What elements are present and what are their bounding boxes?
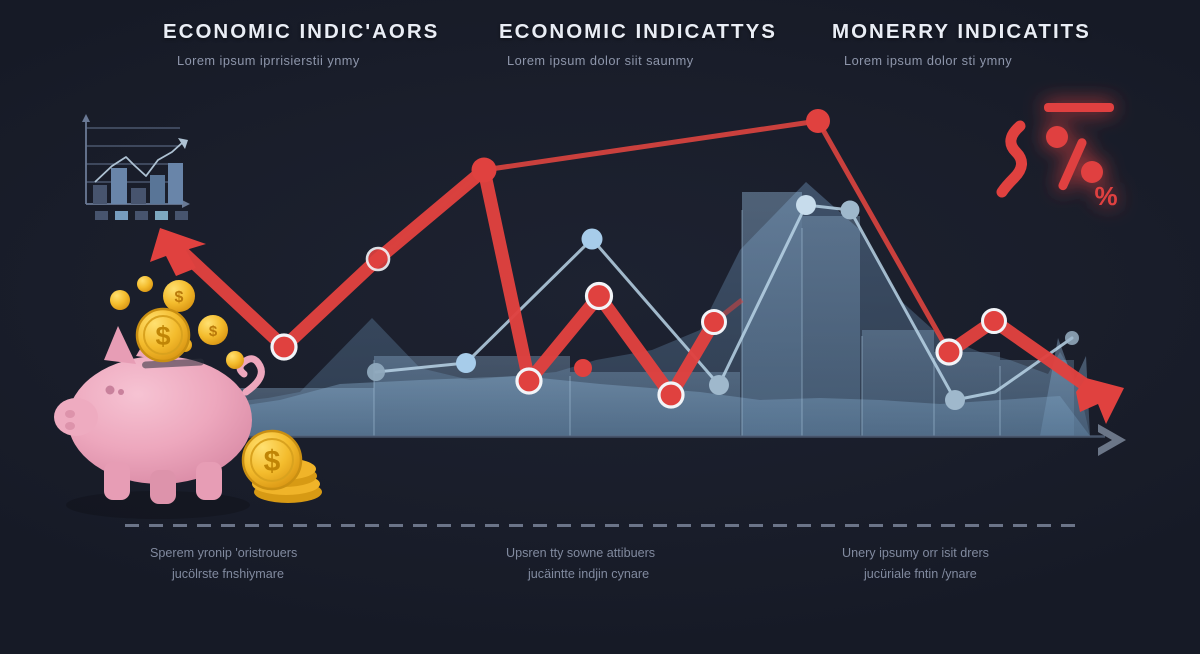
caption-2: Upsren tty sowne attibuers jucäintte ind… [506,543,655,585]
section-subtitle-1: Lorem ipsum iprrisierstii ynmy [177,53,439,68]
svg-text:$: $ [155,321,170,351]
bar-chart-icon [82,114,190,220]
section-header-2: ECONOMIC INDICATTYS Lorem ipsum dolor si… [499,20,777,68]
caption-3-line-1: Unery ipsumy orr isit drers [842,546,989,560]
section-title-1: ECONOMIC INDIC'AORS [163,20,439,44]
svg-text:$: $ [175,289,184,306]
svg-text:$: $ [209,323,218,340]
caption-1: Sperem yronip 'oristrouers jucölrste fns… [150,543,297,585]
caption-3: Unery ipsumy orr isit drers jucüriale fn… [842,543,989,585]
section-header-1: ECONOMIC INDIC'AORS Lorem ipsum iprrisie… [163,20,439,68]
caption-2-line-1: Upsren tty sowne attibuers [506,546,655,560]
caption-2-line-2: jucäintte indjin cynare [506,564,655,585]
section-title-2: ECONOMIC INDICATTYS [499,20,777,44]
axis-arrow-icon [1098,424,1126,456]
section-title-3: MONERRY INDICATITS [832,20,1091,44]
caption-3-line-2: jucüriale fntin /ynare [842,564,989,585]
svg-text:$: $ [264,445,281,478]
section-header-3: MONERRY INDICATITS Lorem ipsum dolor sti… [832,20,1091,68]
dollar-squiggle-icon [1002,126,1022,192]
percent-icon: % [1044,103,1118,211]
section-subtitle-2: Lorem ipsum dolor siit saunmy [507,53,777,68]
caption-1-line-2: jucölrste fnshiymare [150,564,297,585]
section-subtitle-3: Lorem ipsum dolor sti ymny [844,53,1091,68]
svg-text:%: % [1094,181,1117,211]
infographic-canvas: $ $ $ $ [0,0,1200,654]
caption-1-line-1: Sperem yronip 'oristrouers [150,546,297,560]
